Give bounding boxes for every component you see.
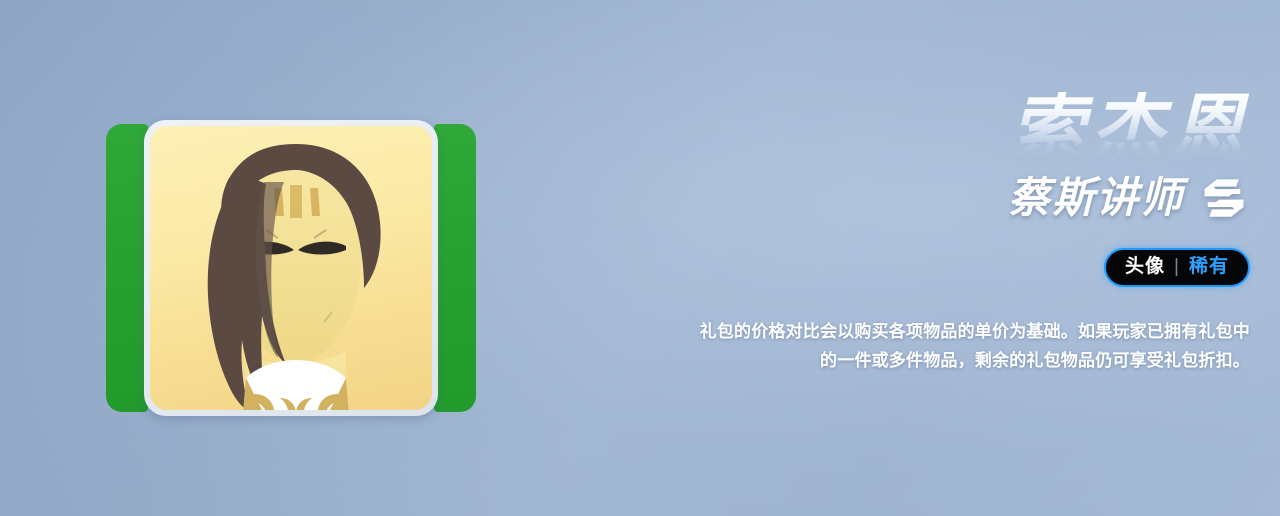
- item-info-panel: 索杰恩 蔡斯讲师 头像 | 稀有 礼包的价格对比会以购买各项物品的单价为基础。如…: [692, 92, 1252, 375]
- item-detail-screen: 索杰恩 蔡斯讲师 头像 | 稀有 礼包的价格对比会以购买各项物品的单价为基础。如…: [0, 0, 1280, 516]
- badge-kind-label: 头像: [1125, 255, 1165, 279]
- overwatch-s-logo-icon: [1198, 172, 1250, 224]
- item-subtitle: 蔡斯讲师: [1008, 177, 1184, 219]
- avatar-portrait-image: [150, 126, 432, 410]
- accent-bar-right: [434, 124, 476, 412]
- subtitle-row: 蔡斯讲师: [692, 172, 1252, 224]
- badge-row: 头像 | 稀有: [692, 248, 1252, 287]
- avatar-card[interactable]: [144, 120, 438, 416]
- badge-separator: |: [1174, 255, 1180, 279]
- avatar-showcase: [106, 110, 476, 420]
- badge-rarity-label: 稀有: [1189, 255, 1229, 279]
- rarity-badge: 头像 | 稀有: [1104, 248, 1250, 287]
- item-description: 礼包的价格对比会以购买各项物品的单价为基础。如果玩家已拥有礼包中的一件或多件物品…: [692, 317, 1252, 375]
- avatar-frame: [150, 126, 432, 410]
- accent-bar-left: [106, 124, 148, 412]
- hero-title: 索杰恩: [692, 92, 1252, 166]
